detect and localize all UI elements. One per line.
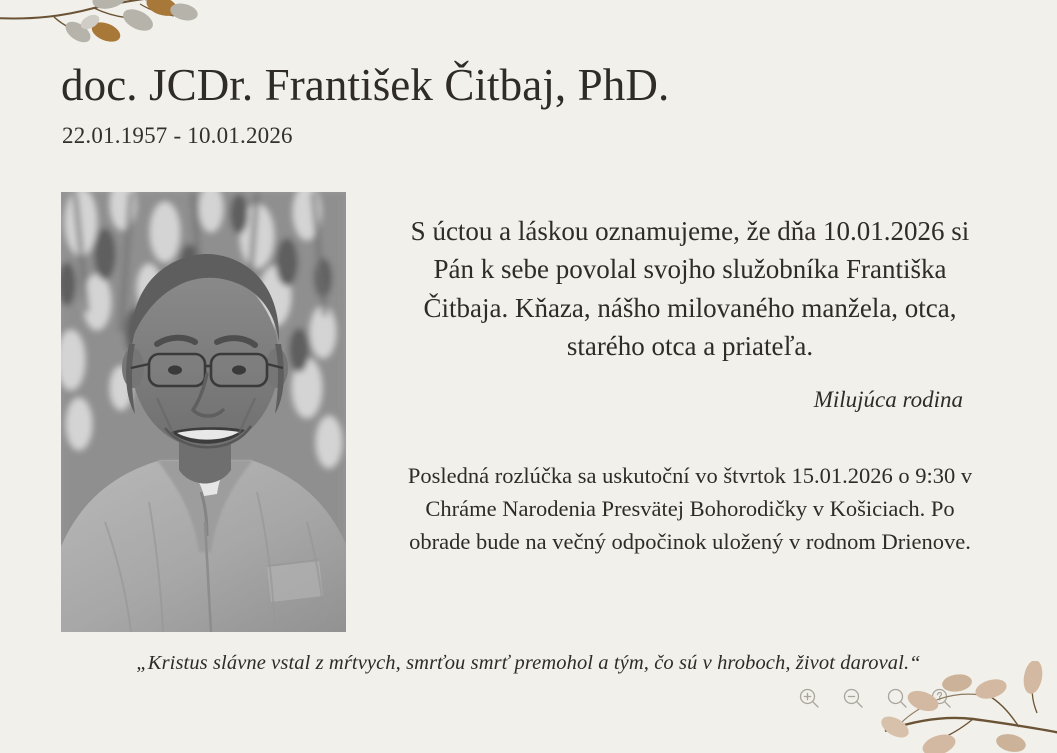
funeral-details: Posledná rozlúčka sa uskutoční vo štvrto… [400,459,980,558]
announcement-column: S úctou a láskou oznamujeme, že dňa 10.0… [400,212,980,559]
announcement-text: S úctou a láskou oznamujeme, že dňa 10.0… [400,212,980,365]
family-signature: Milujúca rodina [400,387,980,413]
zoom-toolbar [793,682,957,714]
zoom-reset-button[interactable] [881,682,913,714]
memorial-quote: „Kristus slávne vstal z mŕtvych, smrťou … [0,652,1057,675]
life-dates: 22.01.1957 - 10.01.2026 [62,122,1001,150]
portrait-photo [61,192,346,632]
magnifier-question-icon [929,686,953,710]
magnifier-icon [885,686,909,710]
zoom-out-button[interactable] [837,682,869,714]
zoom-help-button[interactable] [925,682,957,714]
zoom-out-icon [841,686,865,710]
zoom-in-button[interactable] [793,682,825,714]
zoom-in-icon [797,686,821,710]
deceased-name: doc. JCDr. František Čitbaj, PhD. [61,62,1001,110]
memorial-header: doc. JCDr. František Čitbaj, PhD. 22.01.… [61,62,1001,149]
decorative-branch-top-left [0,0,244,66]
